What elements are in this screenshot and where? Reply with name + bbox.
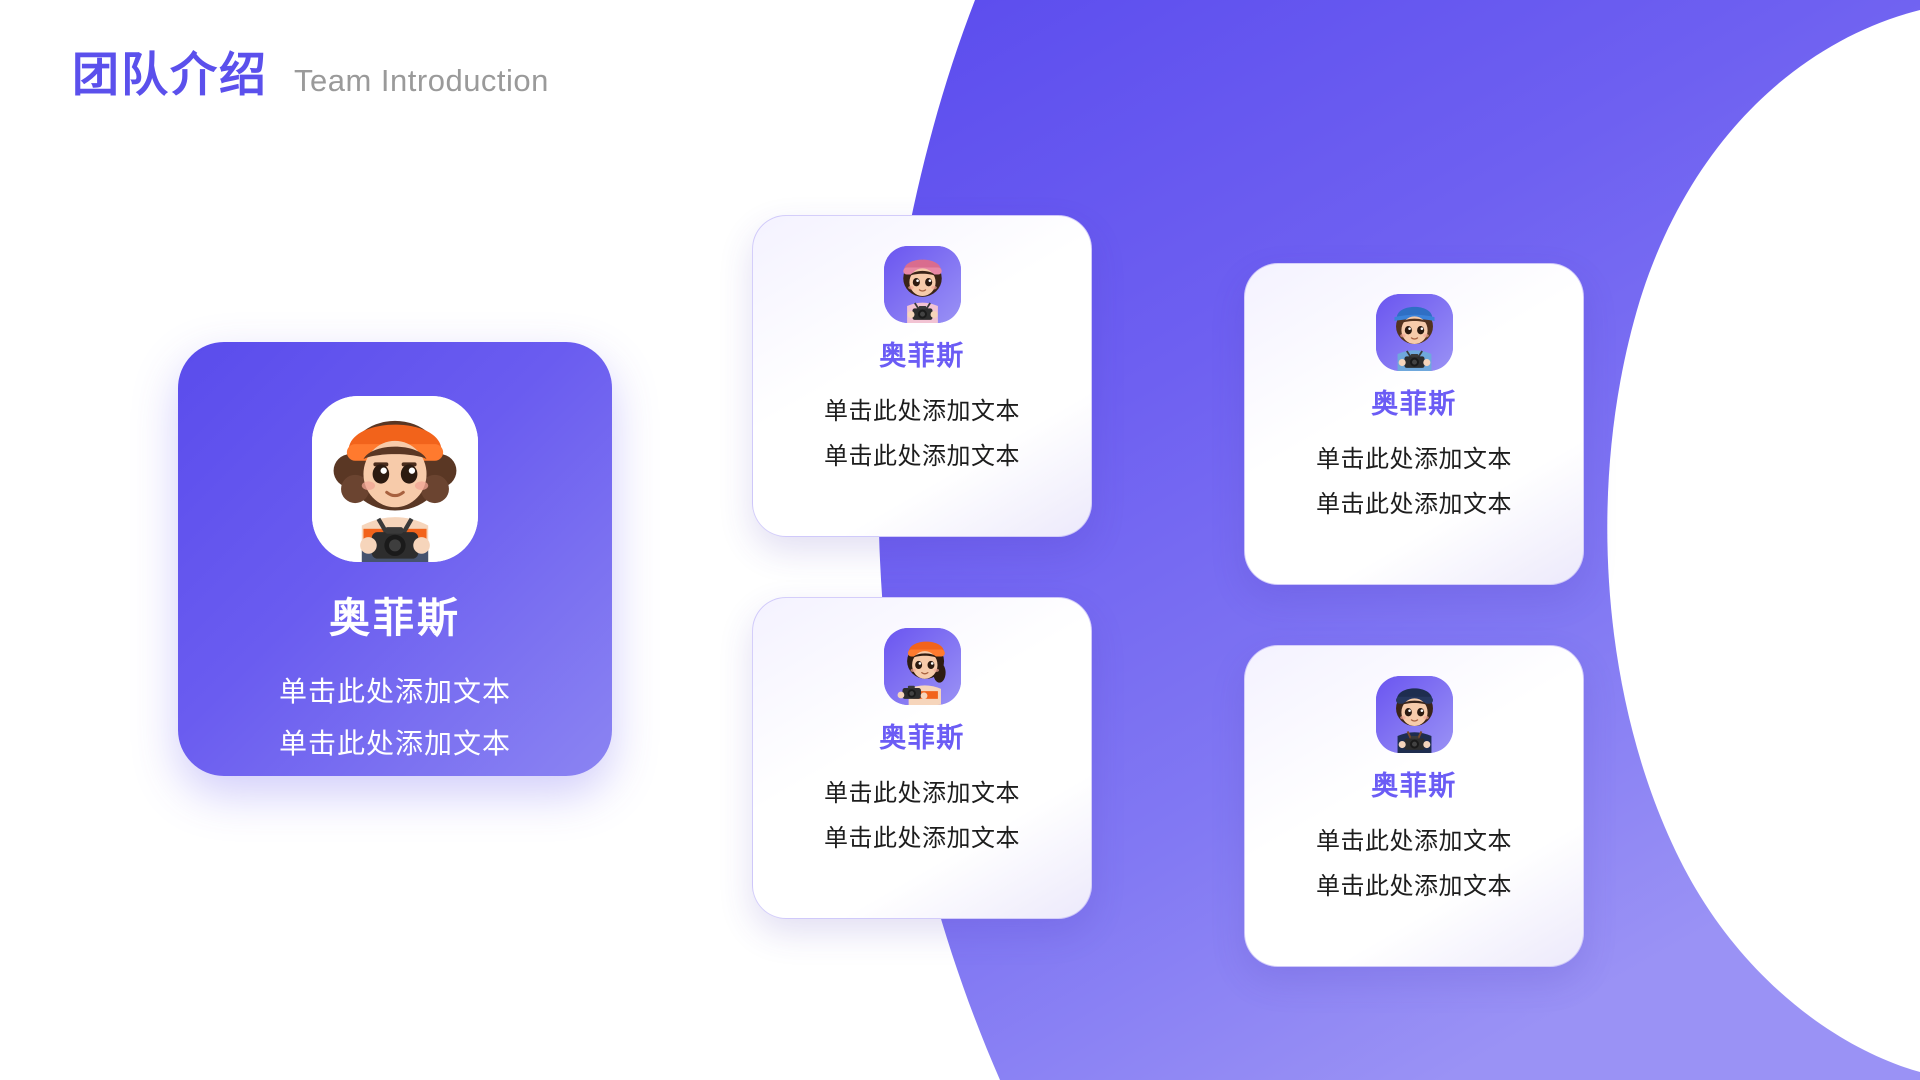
member-name: 奥菲斯 (1371, 382, 1457, 421)
member-line: 单击此处添加文本 (824, 391, 1020, 426)
slide-header: 团队介绍 Team Introduction (72, 52, 549, 99)
featured-member-description: 单击此处添加文本 单击此处添加文本 (279, 670, 511, 762)
photographer-girl-orange-cap-avatar-icon (884, 628, 961, 705)
member-line: 单击此处添加文本 (824, 818, 1020, 853)
member-line: 单击此处添加文本 (824, 436, 1020, 471)
member-line: 单击此处添加文本 (1316, 866, 1512, 901)
featured-member-line: 单击此处添加文本 (279, 670, 511, 710)
member-card[interactable]: 奥菲斯 单击此处添加文本 单击此处添加文本 (1244, 645, 1584, 967)
member-description: 单击此处添加文本 单击此处添加文本 (824, 773, 1020, 853)
photographer-girl-orange-beanie-avatar-icon (312, 396, 478, 562)
member-name: 奥菲斯 (879, 716, 965, 755)
member-name: 奥菲斯 (879, 334, 965, 373)
featured-member-card[interactable]: 奥菲斯 单击此处添加文本 单击此处添加文本 (178, 342, 612, 776)
photographer-boy-blue-cap-avatar-icon (1376, 294, 1453, 371)
member-card[interactable]: 奥菲斯 单击此处添加文本 单击此处添加文本 (1244, 263, 1584, 585)
photographer-girl-pink-beanie-avatar-icon (884, 246, 961, 323)
member-card[interactable]: 奥菲斯 单击此处添加文本 单击此处添加文本 (752, 597, 1092, 919)
member-description: 单击此处添加文本 单击此处添加文本 (824, 391, 1020, 471)
member-line: 单击此处添加文本 (824, 773, 1020, 808)
slide-canvas: 团队介绍 Team Introduction (0, 0, 1920, 1080)
featured-member-line: 单击此处添加文本 (279, 722, 511, 762)
page-title: 团队介绍 (72, 52, 268, 99)
member-line: 单击此处添加文本 (1316, 821, 1512, 856)
photographer-boy-navy-cap-avatar-icon (1376, 676, 1453, 753)
member-description: 单击此处添加文本 单击此处添加文本 (1316, 439, 1512, 519)
member-line: 单击此处添加文本 (1316, 439, 1512, 474)
member-line: 单击此处添加文本 (1316, 484, 1512, 519)
member-card[interactable]: 奥菲斯 单击此处添加文本 单击此处添加文本 (752, 215, 1092, 537)
member-description: 单击此处添加文本 单击此处添加文本 (1316, 821, 1512, 901)
page-subtitle: Team Introduction (294, 65, 549, 96)
featured-member-name: 奥菲斯 (329, 584, 461, 644)
member-name: 奥菲斯 (1371, 764, 1457, 803)
